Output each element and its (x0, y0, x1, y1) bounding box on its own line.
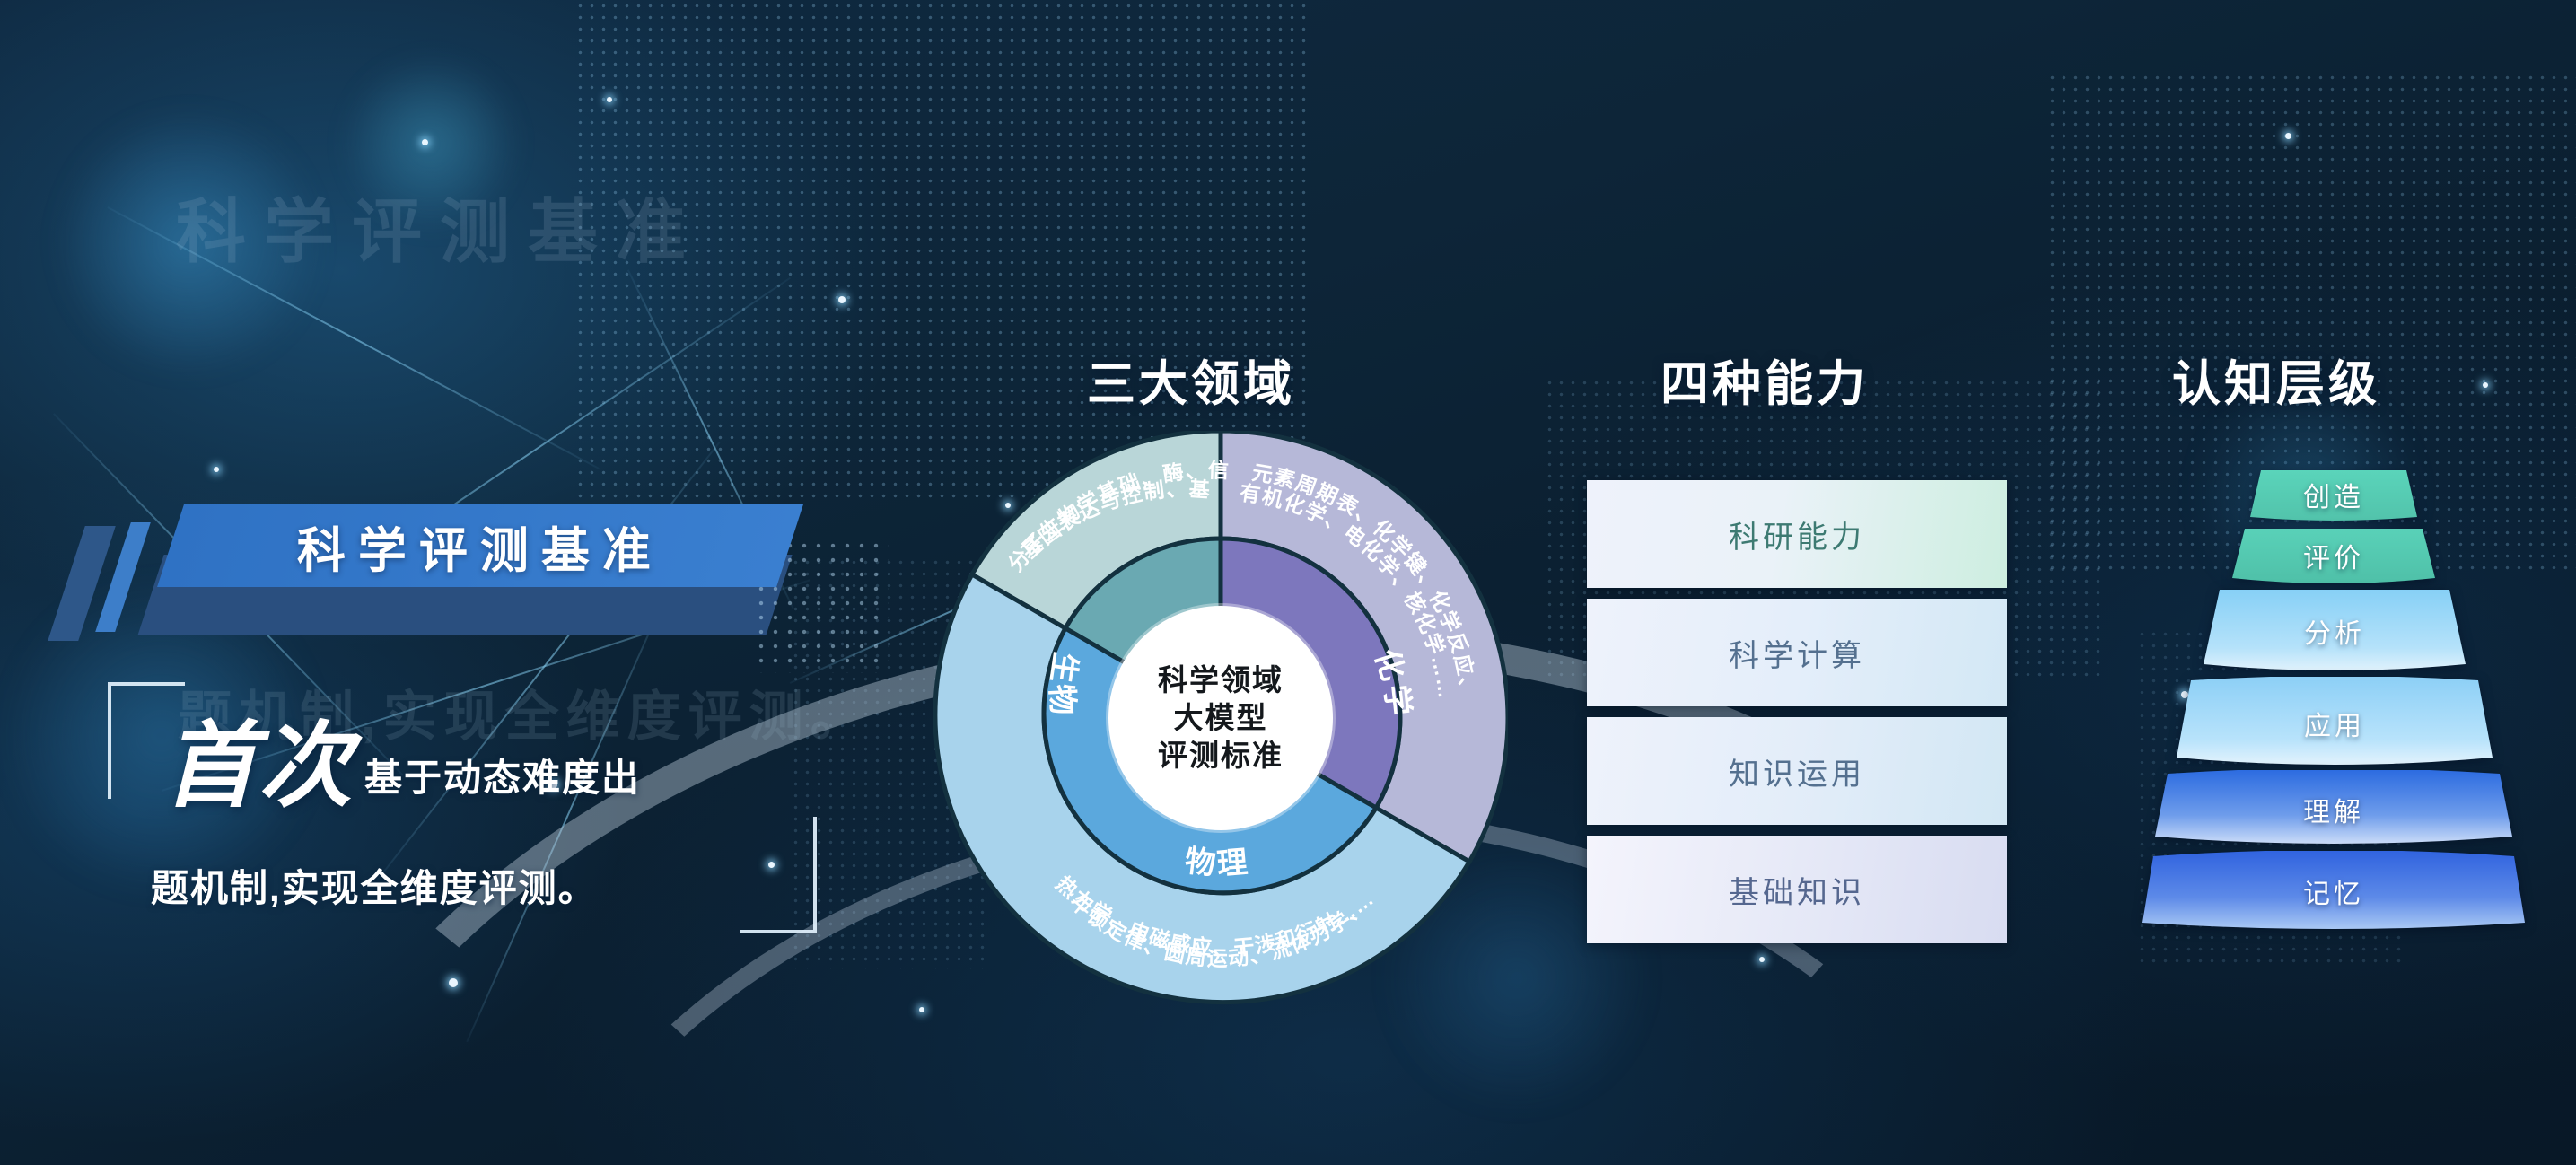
abilities-list: 科研能力 科学计算 知识运用 基础知识 (1587, 480, 2007, 954)
pyramid-level-label: 创造 (2303, 475, 2364, 514)
ability-label: 基础知识 (1729, 868, 1865, 912)
ghost-headline: 科学评测基准 (176, 176, 704, 276)
copy-highlight: 首次 (163, 720, 354, 813)
donut-center-line-2: 大模型 (1174, 699, 1268, 737)
section-heading-domains: 三大领域 (1087, 344, 1295, 415)
cognition-pyramid: 创造 评价 分析 应用 (2141, 467, 2527, 978)
infographic-canvas: 科学评测基准 题机制,实现全维度评测。 科学评测基准 首次 基于动态难度出 题机… (0, 0, 2576, 1165)
pyramid-level-label: 分析 (2304, 611, 2365, 651)
section-heading-cognition: 认知层级 (2172, 344, 2380, 415)
ability-bar-knowledge-application[interactable]: 知识运用 (1587, 717, 2007, 825)
pyramid-level-analyze[interactable]: 分析 (2200, 587, 2469, 675)
copy-line-1-text: 基于动态难度出 (364, 748, 641, 813)
donut-center-label: 科学领域 大模型 评测标准 (1108, 606, 1333, 830)
section-heading-abilities: 四种能力 (1660, 344, 1869, 415)
ability-label: 科研能力 (1729, 512, 1865, 556)
pyramid-level-label: 应用 (2304, 704, 2365, 743)
ability-bar-computation[interactable]: 科学计算 (1587, 599, 2007, 706)
pyramid-level-label: 评价 (2303, 536, 2364, 575)
pyramid-level-remember[interactable]: 记忆 (2141, 851, 2527, 932)
banner-title-text: 科学评测基准 (297, 511, 663, 582)
donut-center-line-3: 评测标准 (1158, 737, 1284, 775)
domains-donut-chart: 分子生物学基础、酶、信号传导、 基因表达与控制、基因工程…… 元素周期表、化学键… (933, 431, 1508, 1005)
bracket-bottom-right-icon (740, 817, 817, 933)
ability-label: 科学计算 (1729, 631, 1865, 675)
pyramid-level-apply[interactable]: 应用 (2173, 677, 2496, 770)
ability-label: 知识运用 (1729, 749, 1865, 793)
copy-line-1: 首次 基于动态难度出 (163, 720, 641, 813)
ability-bar-basic-knowledge[interactable]: 基础知识 (1587, 836, 2007, 943)
pyramid-level-label: 理解 (2303, 790, 2364, 829)
pyramid-level-understand[interactable]: 理解 (2151, 770, 2516, 849)
pyramid-level-evaluate[interactable]: 评价 (2229, 526, 2439, 585)
banner-title-plate: 科学评测基准 (157, 504, 803, 587)
donut-center-line-1: 科学领域 (1158, 661, 1284, 699)
pyramid-level-label: 记忆 (2303, 872, 2364, 911)
copy-line-2-text: 题机制,实现全维度评测。 (151, 858, 598, 913)
pyramid-level-create[interactable]: 创造 (2247, 467, 2421, 522)
left-copy-block: 首次 基于动态难度出 题机制,实现全维度评测。 (108, 682, 817, 933)
ability-bar-research[interactable]: 科研能力 (1587, 480, 2007, 588)
